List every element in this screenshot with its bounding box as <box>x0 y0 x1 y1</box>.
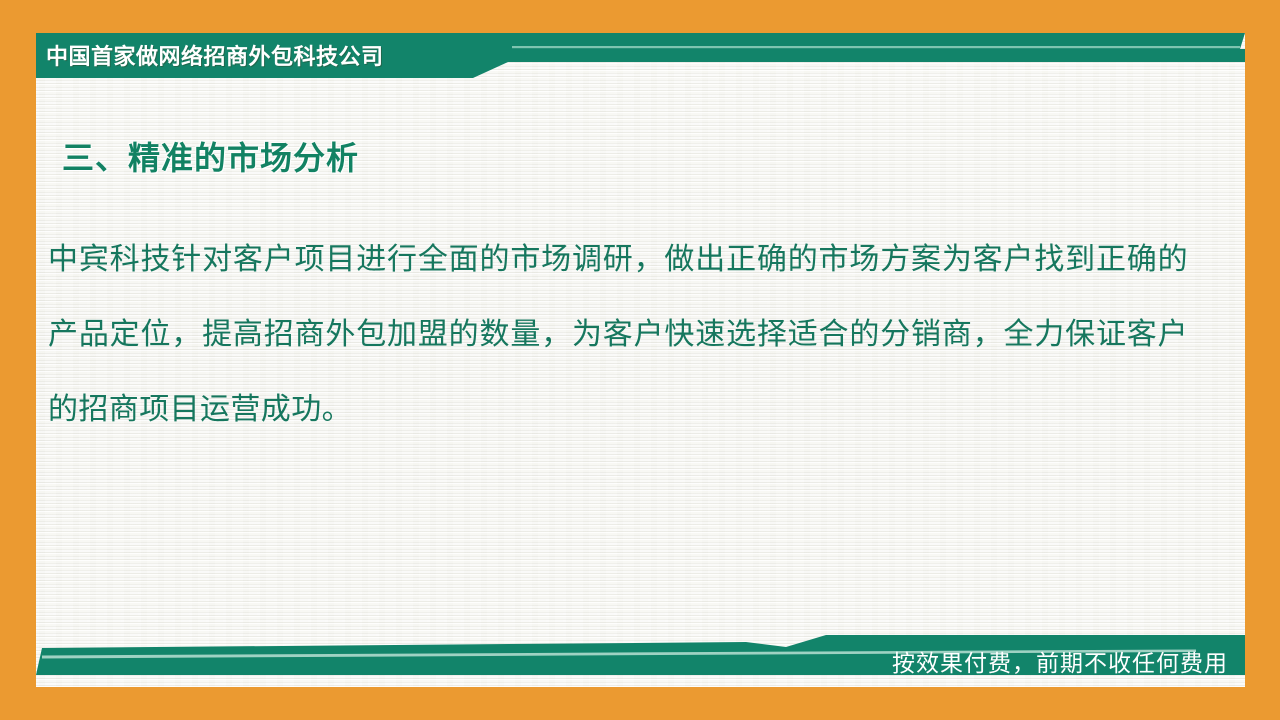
body-paragraph: 中宾科技针对客户项目进行全面的市场调研，做出正确的市场方案为客户找到正确的产品定… <box>48 222 1188 447</box>
header-title: 中国首家做网络招商外包科技公司 <box>46 36 384 74</box>
footer-tagline: 按效果付费，前期不收任何费用 <box>892 641 1228 681</box>
slide-root: 中国首家做网络招商外包科技公司 三、精准的市场分析 中宾科技针对客户项目进行全面… <box>0 0 1280 720</box>
page-title: 三、精准的市场分析 <box>62 133 359 179</box>
